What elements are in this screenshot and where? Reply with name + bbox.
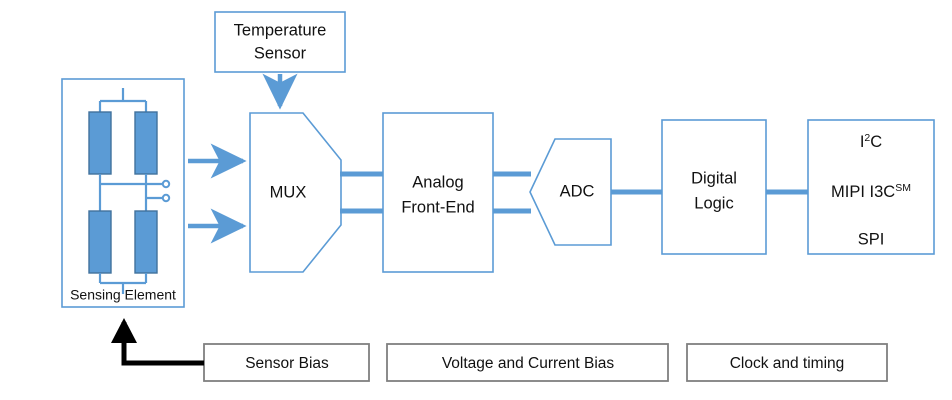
resistor-bottom-right [135, 211, 157, 273]
analog-front-end-label-line1: Analog [412, 173, 463, 191]
temperature-sensor-label-line1: Temperature [234, 21, 327, 39]
block-sensing-element[interactable]: Sensing Element [62, 79, 184, 307]
clock-and-timing-label: Clock and timing [730, 355, 845, 372]
bridge-terminal-dot-bottom [163, 195, 169, 201]
adc-label: ADC [560, 182, 595, 200]
sensor-bias-label: Sensor Bias [245, 355, 329, 372]
interface-mipi-main: MIPI I3C [831, 183, 895, 201]
block-sensor-bias[interactable]: Sensor Bias [204, 344, 369, 381]
block-digital-logic[interactable]: Digital Logic [662, 120, 766, 254]
block-interface[interactable]: I2C MIPI I3CSM SPI [808, 120, 934, 254]
diagram-svg: Sensing Element Temperature Sensor MUX A… [0, 0, 952, 400]
sensing-element-outline [62, 79, 184, 307]
temperature-sensor-label-line2: Sensor [254, 44, 307, 62]
digital-logic-label-line2: Logic [694, 194, 733, 212]
block-diagram-canvas: Sensing Element Temperature Sensor MUX A… [0, 0, 952, 400]
voltage-current-bias-label: Voltage and Current Bias [442, 355, 615, 372]
mux-label: MUX [270, 183, 307, 201]
block-clock-and-timing[interactable]: Clock and timing [687, 344, 887, 381]
resistor-top-right [135, 112, 157, 174]
resistor-top-left [89, 112, 111, 174]
interface-label-spi: SPI [858, 230, 885, 248]
sensing-element-label: Sensing Element [70, 287, 176, 303]
resistor-bottom-left [89, 211, 111, 273]
block-voltage-current-bias[interactable]: Voltage and Current Bias [387, 344, 668, 381]
block-analog-front-end[interactable]: Analog Front-End [383, 113, 493, 272]
bridge-terminal-dot-top [163, 181, 169, 187]
interface-i2c-tail: C [870, 133, 882, 151]
block-mux[interactable]: MUX [250, 113, 341, 272]
block-adc[interactable]: ADC [530, 139, 611, 245]
connector-sensor-bias-to-sensing-element [124, 322, 204, 363]
block-temperature-sensor[interactable]: Temperature Sensor [215, 12, 345, 72]
interface-label-i2c: I2C [860, 132, 882, 152]
analog-front-end-label-line2: Front-End [401, 198, 474, 216]
interface-mipi-superscript: SM [895, 182, 911, 194]
analog-front-end-outline [383, 113, 493, 272]
digital-logic-label-line1: Digital [691, 169, 737, 187]
